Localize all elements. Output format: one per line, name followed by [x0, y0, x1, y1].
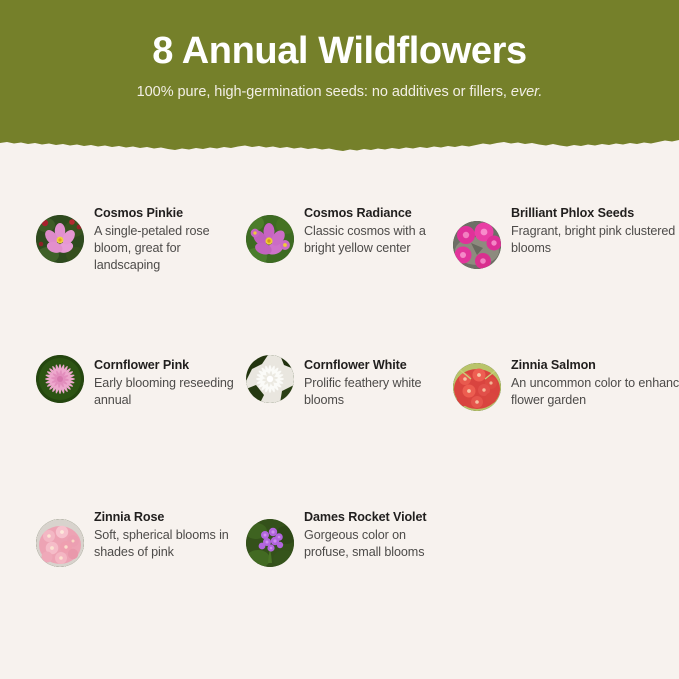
item-text-block: Cosmos Pinkie A single-petaled rose bloo… — [94, 205, 246, 275]
zinnia-rose-thumbnail — [36, 519, 84, 567]
grid-empty-cell — [453, 509, 679, 661]
cosmos-radiance-thumbnail — [246, 215, 294, 263]
cornflower-pink-thumbnail — [36, 355, 84, 403]
list-item: Zinnia Salmon An uncommon color to enhan… — [453, 357, 679, 509]
item-description: Classic cosmos with a bright yellow cent… — [304, 223, 453, 258]
item-text-block: Brilliant Phlox Seeds Fragrant, bright p… — [511, 205, 679, 257]
item-text-block: Dames Rocket Violet Gorgeous color on pr… — [304, 509, 453, 561]
item-title: Cosmos Radiance — [304, 205, 453, 222]
item-description: Soft, spherical blooms in shades of pink — [94, 527, 246, 562]
item-title: Cosmos Pinkie — [94, 205, 246, 222]
list-item: Cosmos Pinkie A single-petaled rose bloo… — [36, 205, 246, 357]
wildflower-variety-grid: Cosmos Pinkie A single-petaled rose bloo… — [0, 205, 679, 661]
list-item: Cosmos Radiance Classic cosmos with a br… — [246, 205, 453, 357]
item-description: An uncommon color to enhance your flower… — [511, 375, 679, 410]
list-item: Zinnia Rose Soft, spherical blooms in sh… — [36, 509, 246, 661]
cornflower-white-thumbnail — [246, 355, 294, 403]
item-description: A single-petaled rose bloom, great for l… — [94, 223, 246, 275]
torn-paper-green-background — [0, 0, 679, 160]
list-item: Cornflower White Prolific feathery white… — [246, 357, 453, 509]
item-title: Cornflower Pink — [94, 357, 246, 374]
item-description: Fragrant, bright pink clustered blooms — [511, 223, 679, 258]
item-title: Zinnia Rose — [94, 509, 246, 526]
item-text-block: Cosmos Radiance Classic cosmos with a br… — [304, 205, 453, 257]
brilliant-phlox-seeds-thumbnail — [453, 221, 501, 269]
item-description: Gorgeous color on profuse, small blooms — [304, 527, 453, 562]
cosmos-pinkie-thumbnail — [36, 215, 84, 263]
item-title: Cornflower White — [304, 357, 453, 374]
item-text-block: Zinnia Salmon An uncommon color to enhan… — [511, 357, 679, 409]
item-text-block: Zinnia Rose Soft, spherical blooms in sh… — [94, 509, 246, 561]
item-title: Dames Rocket Violet — [304, 509, 453, 526]
list-item: Dames Rocket Violet Gorgeous color on pr… — [246, 509, 453, 661]
item-title: Brilliant Phlox Seeds — [511, 205, 679, 222]
item-text-block: Cornflower Pink Early blooming reseeding… — [94, 357, 246, 409]
item-description: Prolific feathery white blooms — [304, 375, 453, 410]
list-item: Cornflower Pink Early blooming reseeding… — [36, 357, 246, 509]
item-title: Zinnia Salmon — [511, 357, 679, 374]
zinnia-salmon-thumbnail — [453, 363, 501, 411]
list-item: Brilliant Phlox Seeds Fragrant, bright p… — [453, 205, 679, 357]
item-description: Early blooming reseeding annual — [94, 375, 246, 410]
dames-rocket-violet-thumbnail — [246, 519, 294, 567]
item-text-block: Cornflower White Prolific feathery white… — [304, 357, 453, 409]
header-banner: 8 Annual Wildflowers 100% pure, high-ger… — [0, 0, 679, 160]
